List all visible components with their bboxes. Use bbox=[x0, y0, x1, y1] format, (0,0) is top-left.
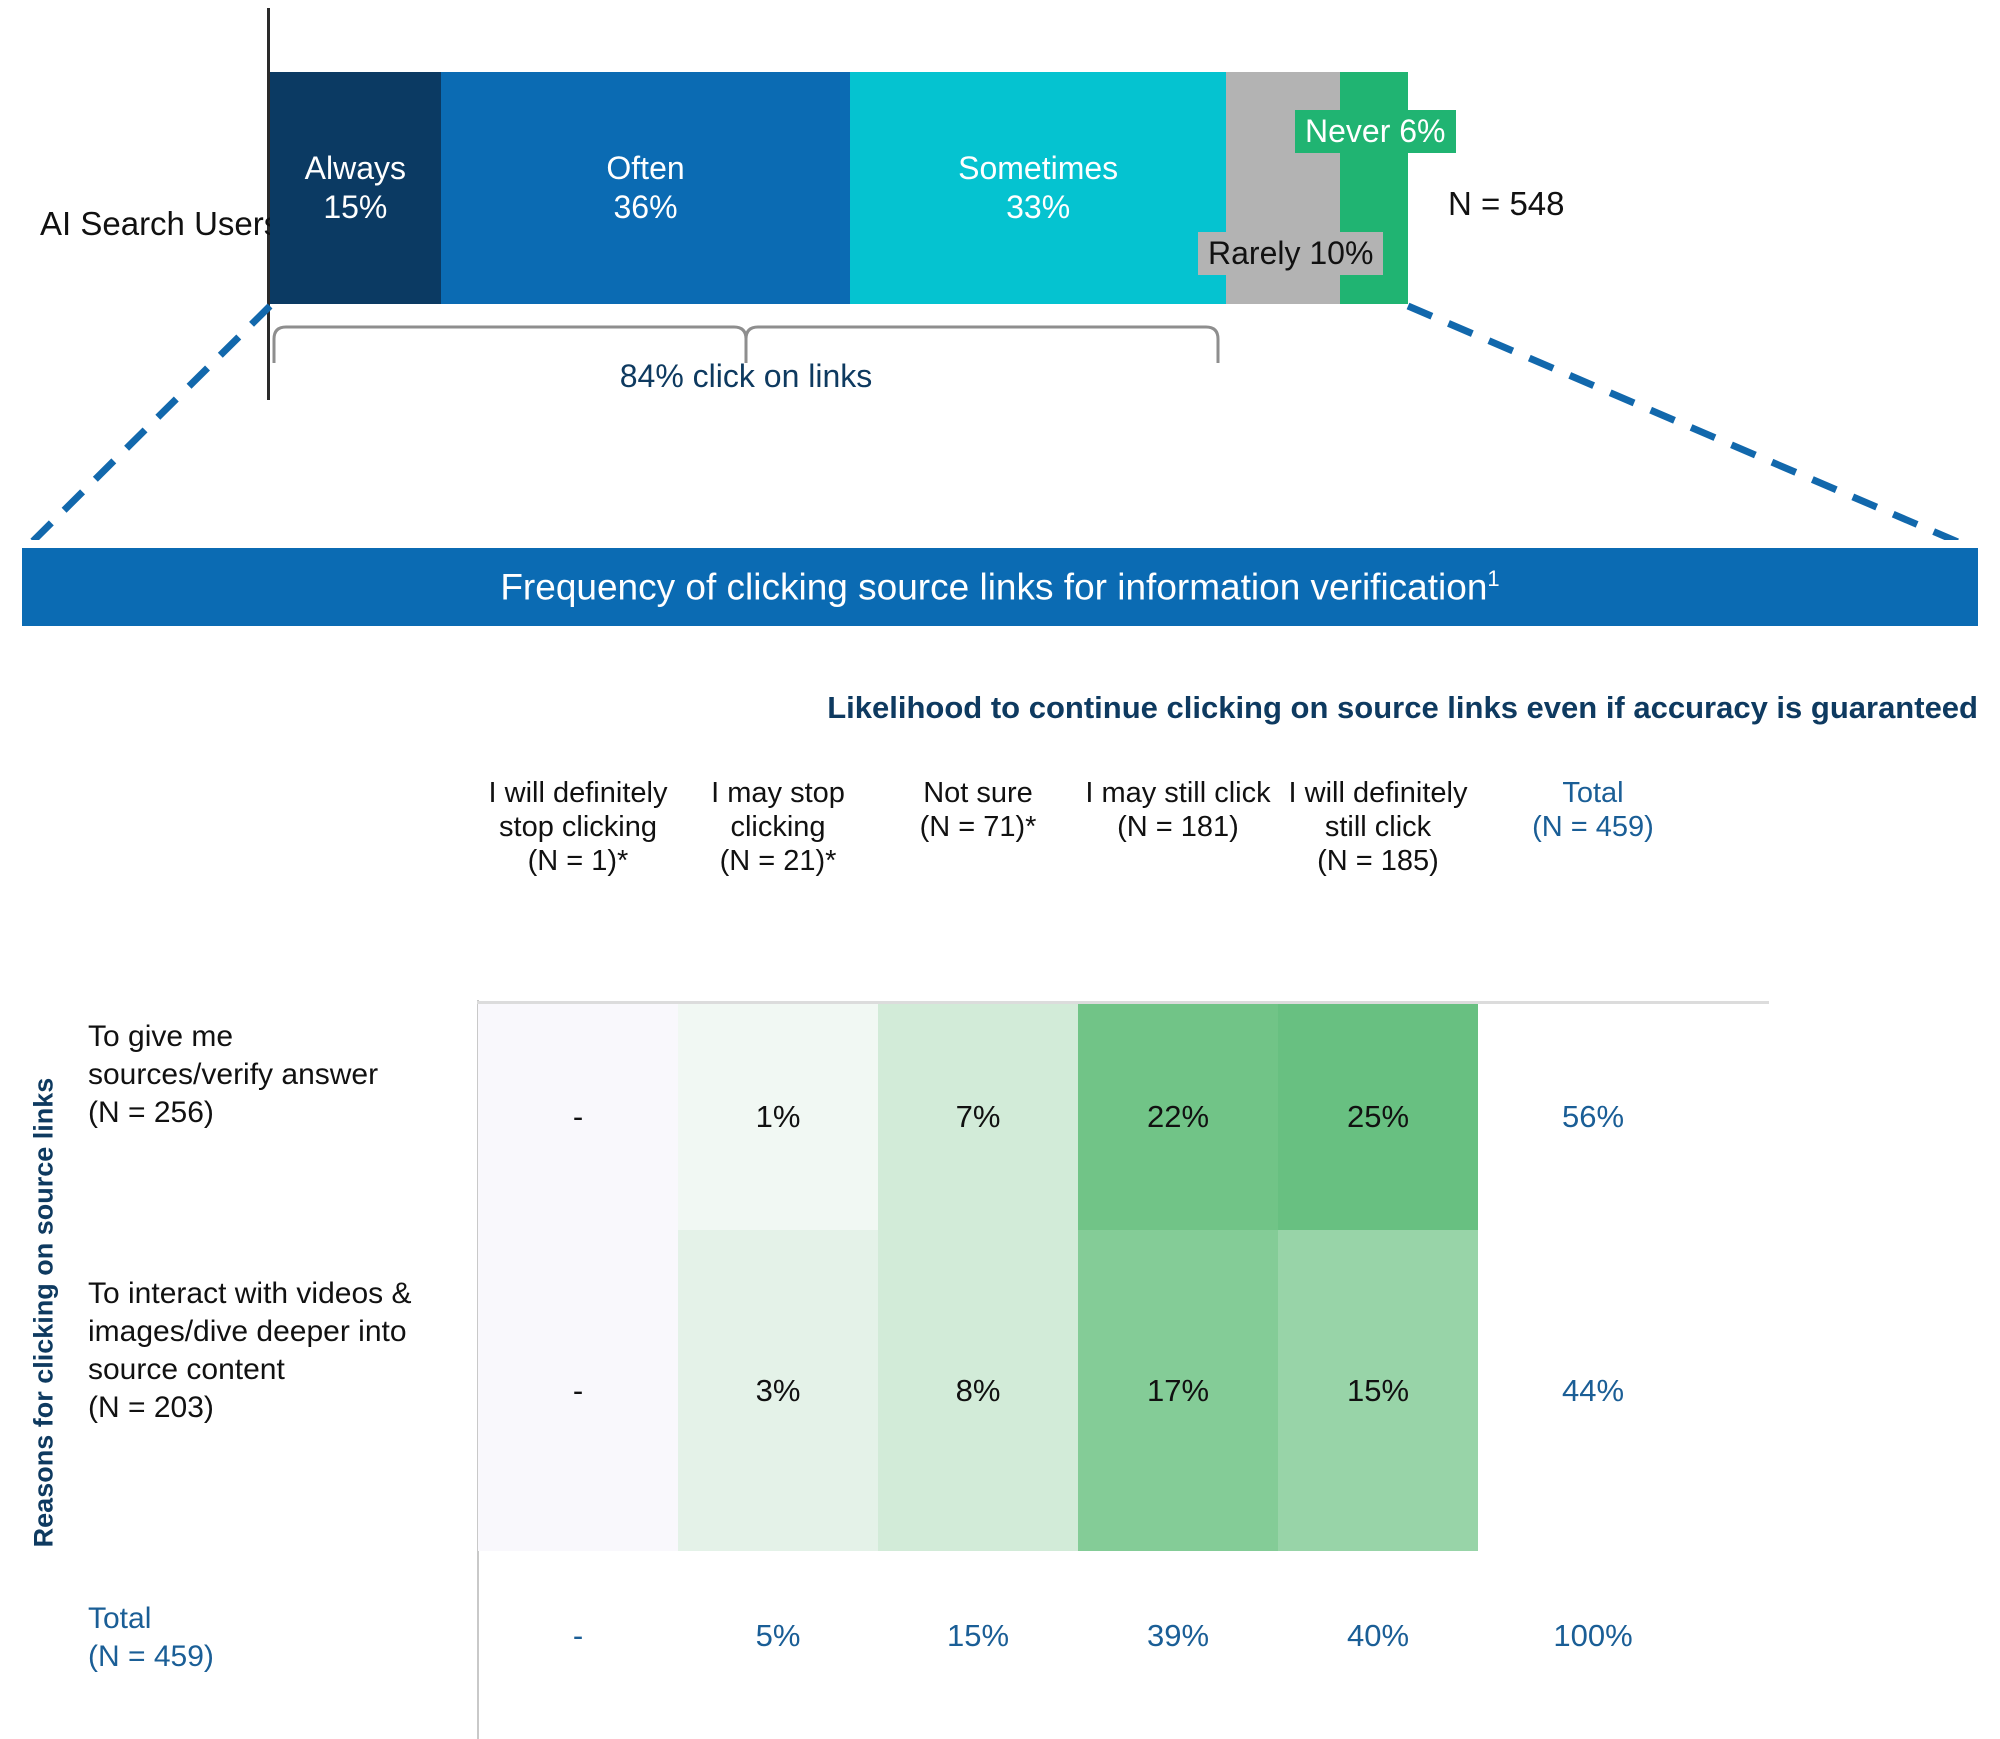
never-callout: Never 6% bbox=[1295, 110, 1456, 153]
column-header-n: (N = 181) bbox=[1078, 810, 1278, 844]
matrix-total-cell-c0: - bbox=[478, 1600, 678, 1672]
bar-row-label: AI Search Users bbox=[40, 205, 260, 243]
column-header-label: I may stop clicking bbox=[711, 777, 845, 843]
column-header-label: I will definitely still click bbox=[1289, 777, 1468, 843]
matrix-title: Likelihood to continue clicking on sourc… bbox=[0, 690, 1978, 726]
banner-title-text: Frequency of clicking source links for i… bbox=[500, 566, 1487, 607]
matrix-cell-r1-c4: 15% bbox=[1278, 1230, 1478, 1551]
table-row: -1%7%22%25%56% bbox=[478, 1004, 1708, 1230]
brace-caption: 84% click on links bbox=[272, 358, 1220, 395]
bar-segment-always: Always15% bbox=[270, 72, 441, 304]
matrix-cell-total-r0: 56% bbox=[1478, 1004, 1708, 1230]
matrix-cell-r0-c1: 1% bbox=[678, 1004, 878, 1230]
matrix-total-cell-c1: 5% bbox=[678, 1600, 878, 1672]
matrix-row-label-0: To give me sources/verify answer(N = 256… bbox=[88, 1018, 418, 1132]
section-banner: Frequency of clicking source links for i… bbox=[22, 548, 1978, 626]
matrix-total-cell-c4: 40% bbox=[1278, 1600, 1478, 1672]
bar-segment-value: 36% bbox=[614, 188, 678, 227]
column-header-label: I may still click bbox=[1085, 777, 1270, 809]
row-label-n: (N = 459) bbox=[88, 1638, 418, 1676]
matrix-column-header-0: I will definitely stop clicking(N = 1)* bbox=[478, 776, 678, 879]
matrix-cell-r1-c3: 17% bbox=[1078, 1230, 1278, 1551]
matrix-cell-r1-c2: 8% bbox=[878, 1230, 1078, 1551]
matrix-row-axis-label: Reasons for clicking on source links bbox=[29, 1013, 60, 1613]
bar-segment-sometimes: Sometimes33% bbox=[850, 72, 1226, 304]
bar-sample-size: N = 548 bbox=[1448, 185, 1565, 223]
matrix-cell-r1-c1: 3% bbox=[678, 1230, 878, 1551]
matrix-column-header-5: Total(N = 459) bbox=[1478, 776, 1708, 879]
matrix-column-headers: I will definitely stop clicking(N = 1)*I… bbox=[478, 776, 1878, 879]
bar-segment-label: Often bbox=[606, 149, 684, 188]
matrix-row-label-total: Total(N = 459) bbox=[88, 1600, 418, 1676]
matrix-total-cell-grand: 100% bbox=[1478, 1600, 1708, 1672]
row-label-text: Total bbox=[88, 1600, 418, 1638]
matrix-heatmap: -1%7%22%25%56% -3%8%17%15%44% bbox=[478, 1004, 1708, 1551]
column-header-label: Total bbox=[1562, 777, 1623, 809]
matrix-row-label-1: To interact with videos & images/dive de… bbox=[88, 1275, 418, 1427]
column-header-n: (N = 71)* bbox=[878, 810, 1078, 844]
column-header-n: (N = 1)* bbox=[478, 844, 678, 878]
column-header-n: (N = 459) bbox=[1478, 810, 1708, 844]
bar-segment-often: Often36% bbox=[441, 72, 851, 304]
table-row: -3%8%17%15%44% bbox=[478, 1230, 1708, 1551]
matrix-total-cell-c3: 39% bbox=[1078, 1600, 1278, 1672]
row-label-text: To interact with videos & images/dive de… bbox=[88, 1275, 418, 1389]
bar-segment-value: 15% bbox=[323, 188, 387, 227]
matrix-cell-total-r1: 44% bbox=[1478, 1230, 1708, 1551]
bar-segment-label: Always bbox=[305, 149, 406, 188]
bar-segment-value: 33% bbox=[1006, 188, 1070, 227]
matrix-column-header-2: Not sure(N = 71)* bbox=[878, 776, 1078, 879]
bar-segment-label: Sometimes bbox=[958, 149, 1118, 188]
matrix-cell-r0-c2: 7% bbox=[878, 1004, 1078, 1230]
matrix-column-header-3: I may still click(N = 181) bbox=[1078, 776, 1278, 879]
column-header-n: (N = 185) bbox=[1278, 844, 1478, 878]
matrix-column-header-4: I will definitely still click(N = 185) bbox=[1278, 776, 1478, 879]
matrix-total-cell-c2: 15% bbox=[878, 1600, 1078, 1672]
matrix-cell-r0-c0: - bbox=[478, 1004, 678, 1230]
stacked-bar-region: AI Search Users Always15%Often36%Sometim… bbox=[0, 0, 2000, 530]
matrix-column-header-1: I may stop clicking(N = 21)* bbox=[678, 776, 878, 879]
banner-title: Frequency of clicking source links for i… bbox=[500, 566, 1499, 608]
matrix-cell-r0-c3: 22% bbox=[1078, 1004, 1278, 1230]
row-label-text: To give me sources/verify answer bbox=[88, 1018, 418, 1094]
row-label-n: (N = 203) bbox=[88, 1389, 418, 1427]
column-header-label: I will definitely stop clicking bbox=[489, 777, 668, 843]
rarely-callout: Rarely 10% bbox=[1198, 232, 1383, 275]
matrix-cell-r0-c4: 25% bbox=[1278, 1004, 1478, 1230]
table-row-total: -5%15%39%40%100% bbox=[478, 1600, 1708, 1672]
banner-footnote-marker: 1 bbox=[1487, 566, 1499, 591]
matrix-cell-r1-c0: - bbox=[478, 1230, 678, 1551]
row-label-n: (N = 256) bbox=[88, 1094, 418, 1132]
column-header-n: (N = 21)* bbox=[678, 844, 878, 878]
column-header-label: Not sure bbox=[923, 777, 1033, 809]
